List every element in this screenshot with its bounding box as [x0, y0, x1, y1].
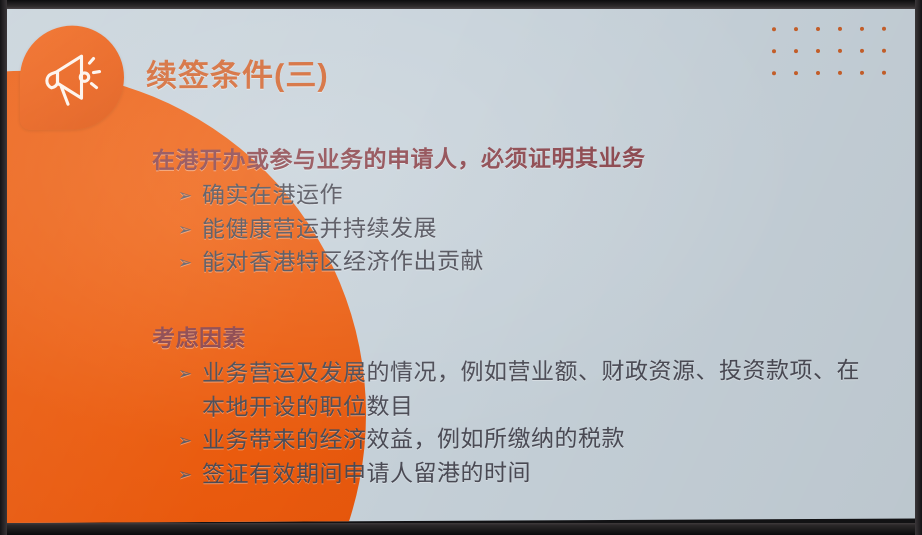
presentation-slide: 续签条件(三) 在港开办或参与业务的申请人，必须证明其业务 ➢ 确实在港运作 ➢… — [6, 4, 917, 523]
section-block-one: 在港开办或参与业务的申请人，必须证明其业务 ➢ 确实在港运作 ➢ 能健康营运并持… — [152, 138, 892, 280]
slide-content: 续签条件(三) 在港开办或参与业务的申请人，必须证明其业务 ➢ 确实在港运作 ➢… — [6, 4, 917, 523]
bullet-item: ➢ 业务带来的经济效益，例如所缴纳的税款 — [178, 421, 882, 458]
slide-title: 续签条件(三) — [146, 49, 329, 95]
bullet-item: ➢ 签证有效期间申请人留港的时间 — [178, 454, 882, 491]
section-heading-one: 在港开办或参与业务的申请人，必须证明其业务 — [152, 138, 892, 176]
bullet-text: 能健康营运并持续发展 — [202, 214, 437, 241]
bullet-item: ➢ 能对香港特区经济作出贡献 — [178, 243, 892, 280]
bullet-item: ➢ 确实在港运作 — [178, 176, 892, 213]
bullet-arrow-icon: ➢ — [178, 214, 193, 246]
screen-bezel-bottom — [0, 523, 922, 535]
section-heading-two: 考虑因素 — [152, 316, 892, 354]
bullet-item: ➢ 能健康营运并持续发展 — [178, 209, 892, 246]
bullet-arrow-icon: ➢ — [178, 247, 193, 279]
bullet-arrow-icon: ➢ — [178, 425, 193, 457]
bullet-text: 能对香港特区经济作出贡献 — [202, 248, 484, 275]
bullet-list-one: ➢ 确实在港运作 ➢ 能健康营运并持续发展 ➢ 能对香港特区经济作出贡献 — [178, 176, 892, 280]
bullet-text: 业务带来的经济效益，例如所缴纳的税款 — [202, 425, 625, 453]
bullet-list-two: ➢ 业务营运及发展的情况，例如营业额、财政资源、投资款项、在本地开设的职位数目 … — [178, 354, 892, 492]
bullet-text: 签证有效期间申请人留港的时间 — [202, 459, 531, 487]
bullet-text: 确实在港运作 — [202, 181, 343, 208]
bullet-item: ➢ 业务营运及发展的情况，例如营业额、财政资源、投资款项、在本地开设的职位数目 — [178, 354, 882, 425]
bullet-arrow-icon: ➢ — [178, 358, 193, 390]
bullet-text: 业务营运及发展的情况，例如营业额、财政资源、投资款项、在本地开设的职位数目 — [202, 357, 860, 420]
bullet-arrow-icon: ➢ — [178, 459, 193, 491]
projected-screen-frame: 续签条件(三) 在港开办或参与业务的申请人，必须证明其业务 ➢ 确实在港运作 ➢… — [0, 0, 922, 535]
bullet-arrow-icon: ➢ — [178, 180, 193, 212]
section-block-two: 考虑因素 ➢ 业务营运及发展的情况，例如营业额、财政资源、投资款项、在本地开设的… — [152, 316, 892, 492]
